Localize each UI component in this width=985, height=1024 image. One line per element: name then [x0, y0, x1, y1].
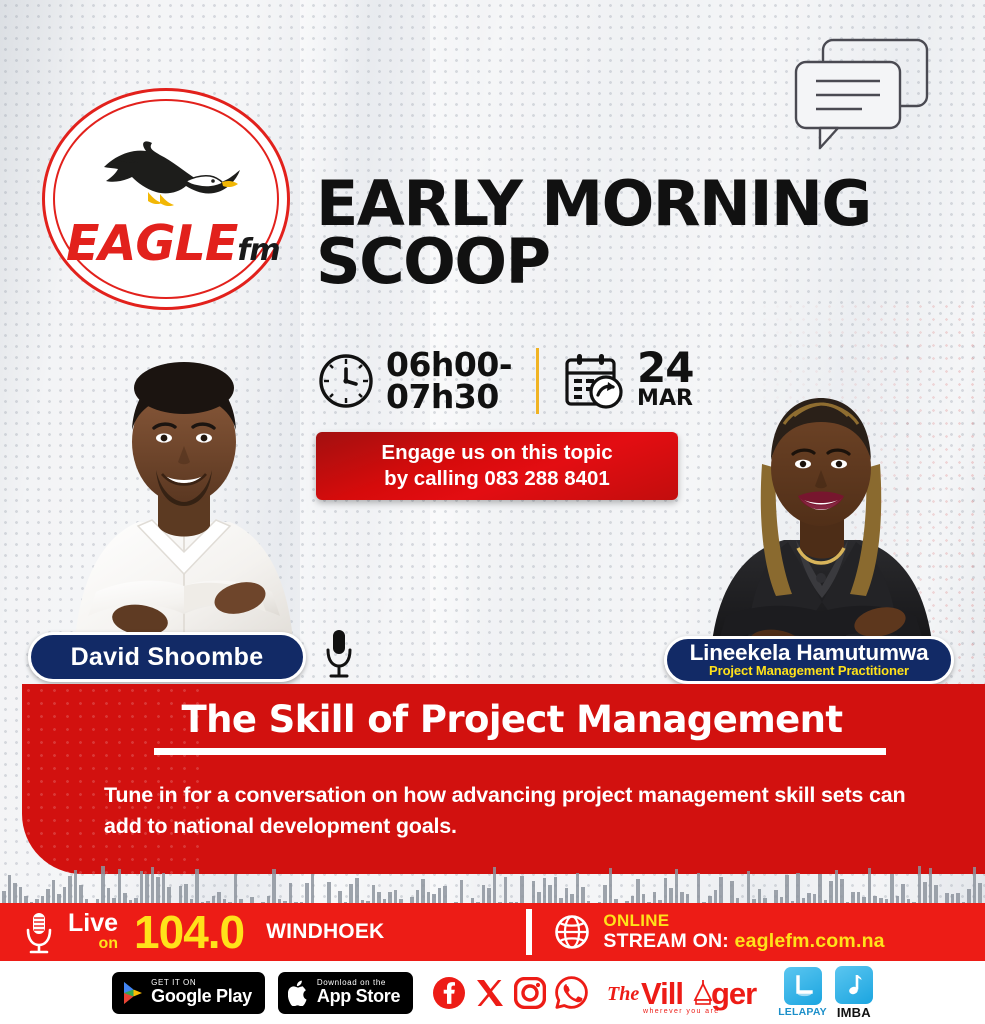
lelapay-icon [784, 967, 822, 1005]
broadcast-bar: Live on 104.0 WINDHOEK ONLINE STREAM ON:… [0, 903, 985, 961]
microphone-icon [322, 628, 356, 680]
frequency-label: 104.0 [134, 909, 244, 955]
live-label: Live [68, 912, 118, 935]
online-label: ONLINE [603, 912, 884, 931]
google-play-badge[interactable]: GET IT ON Google Play [112, 972, 265, 1014]
guest-name-lineekela: Lineekela Hamutumwa [690, 642, 929, 665]
waveform-bar [493, 867, 497, 909]
imba-logo: IMBA [835, 966, 873, 1020]
apple-icon [288, 980, 310, 1006]
lelapay-logo: LELAPAY [778, 967, 827, 1018]
villager-logo: The Vill ger wherever you are [607, 970, 759, 1016]
poster-canvas: EAGLEfm EARLY MORNING SCOOP 06h00- [0, 0, 985, 1024]
waveform-bar [151, 867, 155, 909]
schedule-divider [536, 348, 539, 414]
logo-word-eagle: EAGLE [66, 215, 237, 272]
airtime-block: 06h00- 07h30 [318, 349, 512, 412]
speech-bubbles-icon [790, 36, 940, 156]
microphone-icon [22, 910, 56, 954]
villager-hut-icon [695, 980, 711, 1004]
on-label: on [98, 937, 118, 952]
nameplate-lineekela: Lineekela Hamutumwa Project Management P… [664, 636, 954, 684]
waveform-bar [973, 867, 977, 908]
airtime-line-2: 07h30 [386, 381, 512, 413]
show-title: EARLY MORNING SCOOP [316, 175, 956, 290]
live-label-group: Live on [68, 912, 118, 952]
engage-line-1: Engage us on this topic [381, 440, 612, 466]
social-icons [432, 976, 588, 1010]
app-store-badge[interactable]: Download on the App Store [278, 972, 413, 1014]
google-play-icon [122, 981, 144, 1005]
app-store-big: App Store [317, 987, 400, 1006]
stream-url[interactable]: eaglefm.com.na [735, 930, 885, 952]
city-label: WINDHOEK [266, 920, 384, 944]
broadcast-online-group[interactable]: ONLINE STREAM ON: eaglefm.com.na [554, 912, 884, 952]
imba-label: IMBA [835, 1005, 873, 1020]
guest-role-lineekela: Project Management Practitioner [709, 664, 909, 678]
topic-underline [154, 748, 886, 755]
topic-title: The Skill of Project Management [112, 698, 912, 741]
google-play-big: Google Play [151, 987, 252, 1006]
nameplate-david: David Shoombe [28, 632, 306, 682]
instagram-icon[interactable] [514, 977, 546, 1009]
schedule-row: 06h00- 07h30 24 M [318, 348, 694, 414]
globe-icon [554, 914, 590, 950]
partner-logos: LELAPAY IMBA [778, 966, 873, 1020]
stream-label: STREAM ON: [603, 930, 729, 952]
engage-banner[interactable]: Engage us on this topic by calling 083 2… [316, 432, 678, 500]
guest-photo-david [34, 330, 334, 660]
topic-description: Tune in for a conversation on how advanc… [104, 780, 940, 841]
broadcast-live-group: Live on 104.0 WINDHOEK [0, 909, 384, 955]
whatsapp-icon[interactable] [555, 976, 588, 1009]
show-title-line-2: SCOOP [316, 233, 956, 291]
station-logo: EAGLEfm [42, 88, 290, 310]
villager-the: The [607, 983, 639, 1005]
villager-vill: Vill [641, 976, 683, 1011]
topic-panel: The Skill of Project Management Tune in … [22, 684, 985, 874]
logo-word-fm: fm [237, 233, 279, 268]
villager-tagline: wherever you are [642, 1008, 719, 1015]
guest-name-david: David Shoombe [71, 643, 264, 672]
online-text-block: ONLINE STREAM ON: eaglefm.com.na [603, 912, 884, 952]
footer-logo-strip: GET IT ON Google Play Download on the Ap… [0, 961, 985, 1024]
x-twitter-icon[interactable] [475, 978, 505, 1008]
imba-icon [835, 966, 873, 1004]
calendar-icon [563, 352, 625, 410]
waveform-bar [918, 866, 922, 908]
facebook-icon[interactable] [432, 976, 466, 1010]
audio-waveform [0, 866, 985, 908]
waveform-bar [929, 868, 933, 908]
guest-photo-lineekela [684, 372, 959, 664]
logo-wordmark: EAGLEfm [66, 219, 266, 268]
airdate-block: 24 MAR [563, 351, 693, 410]
engage-line-2: by calling 083 288 8401 [384, 466, 610, 492]
broadcast-divider [526, 909, 532, 955]
airtime-text: 06h00- 07h30 [386, 349, 512, 412]
show-title-line-1: EARLY MORNING [316, 175, 956, 233]
villager-ger: ger [711, 976, 757, 1011]
stream-line: STREAM ON: eaglefm.com.na [603, 931, 884, 952]
waveform-bar [101, 866, 105, 908]
lelapay-label: LELAPAY [778, 1006, 827, 1018]
waveform-bar [609, 868, 613, 908]
